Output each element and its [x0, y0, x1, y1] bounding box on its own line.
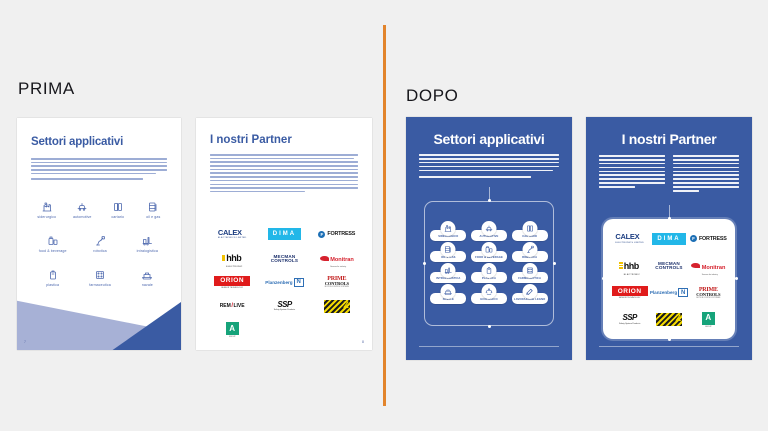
- before-sector-row: plasticafarmaceuticanavale: [29, 264, 171, 293]
- connector-dot-right: [553, 262, 556, 265]
- logo-sz: Z: [324, 300, 350, 313]
- after-sector-node[interactable]: LAVORAZIONE LEGNO: [509, 285, 550, 304]
- car-icon: [65, 196, 101, 213]
- after-page-partner: I nostri Partner CALEXELE: [586, 117, 752, 360]
- before-partner-logo[interactable]: PRIMECONTROLSMOTION CONTROL SYSTEMS: [311, 270, 363, 294]
- food-bottle-icon: [481, 242, 496, 257]
- after-sector-pill: ECOLOGICO: [471, 293, 507, 304]
- after-partner-logo[interactable]: ORIONSENSOR TECHNOLOGY: [610, 279, 649, 306]
- before-sector-item[interactable]: automotive: [65, 196, 101, 219]
- before-sector-icon-grid: siderurgicoautomotivecartariooil e gasfo…: [29, 196, 171, 298]
- before-page-settori: Settori applicativi siderurgicoautomotiv…: [17, 118, 181, 350]
- before-sector-label: farmaceutica: [76, 283, 123, 287]
- logo-calex: CALEXELECTRONICS LIMITED: [218, 229, 247, 240]
- before-partner-logo-grid: CALEXELECTRONICS LIMITEDDIMAFFORTRESShhb…: [206, 222, 363, 342]
- after-sector-pill: NAVALE: [430, 293, 466, 304]
- before-partner-logo[interactable]: AGROUP: [206, 318, 258, 342]
- before-sector-item[interactable]: farmaceutica: [76, 264, 123, 287]
- after-partner-logo[interactable]: Z: [649, 306, 688, 333]
- after-sector-pill: FARMACEUTICA: [512, 272, 548, 283]
- after-settori-title: Settori applicativi: [406, 131, 572, 147]
- logo-planzen: PlanzenbergN: [650, 288, 688, 297]
- after-sector-pill: SIDERURGICO: [430, 230, 466, 241]
- ship-icon: [441, 284, 456, 299]
- before-sector-label: plastica: [29, 283, 76, 287]
- before-sector-label: automotive: [65, 215, 101, 219]
- logo-mecman: MECMANCONTROLS: [655, 261, 682, 270]
- before-partner-page-number: 8: [362, 340, 364, 344]
- food-bottle-icon: [29, 230, 76, 247]
- after-sector-pill: INTRALOGISTICA: [430, 272, 466, 283]
- logo-dima: DIMA: [268, 228, 301, 240]
- before-partner-title: I nostri Partner: [210, 134, 292, 146]
- logo-prime: PRIMECONTROLSMOTION CONTROL SYSTEMS: [696, 287, 720, 299]
- robot-arm-icon: [76, 230, 123, 247]
- after-sector-pill: FOOD & BEVERAGE: [471, 251, 507, 262]
- oil-barrel-icon: [441, 242, 456, 257]
- logo-green: AGROUP: [226, 322, 239, 338]
- before-partner-logo[interactable]: PlanzenbergN: [258, 270, 310, 294]
- before-partner-logo[interactable]: FFORTRESS: [311, 222, 363, 246]
- robot-arm-icon: [522, 242, 537, 257]
- ship-icon: [124, 264, 171, 281]
- before-partner-logo[interactable]: CALEXELECTRONICS LIMITED: [206, 222, 258, 246]
- before-sector-label: siderurgico: [29, 215, 65, 219]
- logo-hhb: hhbELECTRONIC: [222, 248, 243, 268]
- paper-roll-icon: [522, 221, 537, 236]
- connector-dot-bottom: [488, 325, 491, 328]
- logo-planzen: PlanzenbergN: [265, 278, 303, 287]
- paper-roll-icon: [100, 196, 136, 213]
- before-sector-item[interactable]: oil e gas: [136, 196, 172, 219]
- after-partner-logo[interactable]: PRIMECONTROLSMOTION CONTROL SYSTEMS: [689, 279, 728, 306]
- before-sector-label: navale: [124, 283, 171, 287]
- logo-mecman: MECMANCONTROLS: [271, 254, 298, 263]
- before-sector-item[interactable]: robotica: [76, 230, 123, 253]
- connector-dot-left: [602, 277, 605, 280]
- after-sector-node[interactable]: NAVALE: [428, 285, 469, 304]
- section-label-dopo: DOPO: [406, 86, 458, 106]
- pharma-blister-icon: [522, 263, 537, 278]
- after-partner-logo-card: CALEXELECTRONICS LIMITEDDIMAFFORTRESShhb…: [603, 219, 735, 339]
- before-page-partner: I nostri Partner CALEXELECTRONICS LIMITE…: [196, 118, 372, 350]
- after-sector-pill: ROBOTICA: [512, 251, 548, 262]
- after-sector-pill: CARTARIO: [512, 230, 548, 241]
- logo-calex: CALEXELECTRONICS LIMITED: [615, 233, 644, 244]
- logo-ssp: SSPSafety System Products: [619, 314, 640, 325]
- connector-dot-right: [735, 277, 738, 280]
- connector-dot-bottom: [668, 338, 671, 341]
- before-sector-row: food & beverageroboticaintralogistica: [29, 230, 171, 259]
- after-sector-node[interactable]: INTRALOGISTICA: [428, 264, 469, 283]
- after-partner-logo[interactable]: CALEXELECTRONICS LIMITED: [610, 225, 649, 252]
- forklift-icon: [124, 230, 171, 247]
- logo-sz: Z: [656, 313, 682, 326]
- logo-remlive: REM/LIVE: [220, 303, 245, 309]
- logo-ssp: SSPSafety System Products: [274, 301, 295, 312]
- before-sector-item[interactable]: cartario: [100, 196, 136, 219]
- after-sector-node-container: SIDERURGICOAUTOMOTIVECARTARIOOIL E GASFO…: [424, 201, 554, 326]
- logo-prime: PRIMECONTROLSMOTION CONTROL SYSTEMS: [325, 276, 349, 288]
- after-settori-paragraph-1: [419, 154, 559, 173]
- after-partner-two-column-text: [599, 155, 739, 194]
- forklift-icon: [441, 263, 456, 278]
- after-page-settori: Settori applicativi SIDERURGICOAUTOMOTIV…: [406, 117, 572, 360]
- car-icon: [481, 221, 496, 236]
- after-sector-node[interactable]: PLASTICA: [469, 264, 510, 283]
- logo-fortress: FFORTRESS: [318, 231, 355, 238]
- after-partner-logo[interactable]: SSPSafety System Products: [610, 306, 649, 333]
- after-sector-pill: AUTOMOTIVE: [471, 230, 507, 241]
- after-partner-logo[interactable]: hhbELECTRONIC: [610, 252, 649, 279]
- logo-monitran: MonitranSensors for industry: [320, 248, 354, 268]
- after-sector-node[interactable]: FARMACEUTICA: [509, 264, 550, 283]
- after-settori-footer-rule: [419, 346, 559, 347]
- before-settori-page-number: 7: [24, 340, 26, 344]
- plastic-canister-icon: [481, 263, 496, 278]
- after-partner-logo[interactable]: MonitranSensors for industry: [689, 252, 728, 279]
- wood-saw-icon: [522, 284, 537, 299]
- before-sector-item[interactable]: siderurgico: [29, 196, 65, 219]
- before-sector-row: siderurgicoautomotivecartariooil e gas: [29, 196, 171, 225]
- oil-barrel-icon: [136, 196, 172, 213]
- before-settori-title: Settori applicativi: [31, 136, 123, 148]
- after-partner-title: I nostri Partner: [586, 131, 752, 147]
- plastic-canister-icon: [29, 264, 76, 281]
- pharma-blister-icon: [76, 264, 123, 281]
- before-partner-logo[interactable]: MonitranSensors for industry: [311, 246, 363, 270]
- before-sector-label: robotica: [76, 249, 123, 253]
- after-settori-paragraph-2: [419, 176, 559, 180]
- before-sector-item[interactable]: navale: [124, 264, 171, 287]
- logo-monitran: MonitranSensors for industry: [691, 256, 725, 276]
- before-partner-logo[interactable]: ORIONSENSOR TECHNOLOGY: [206, 270, 258, 294]
- before-partner-logo[interactable]: hhbELECTRONIC: [206, 246, 258, 270]
- after-sector-node[interactable]: ROBOTICA: [509, 243, 550, 262]
- after-sector-node[interactable]: CARTARIO: [509, 222, 550, 241]
- before-partner-logo[interactable]: REM/LIVE: [206, 294, 258, 318]
- before-partner-logo[interactable]: SSPSafety System Products: [258, 294, 310, 318]
- before-partner-logo[interactable]: Z: [311, 294, 363, 318]
- after-partner-logo[interactable]: DIMA: [649, 225, 688, 252]
- after-partner-logo[interactable]: FFORTRESS: [689, 225, 728, 252]
- after-partner-logo[interactable]: PlanzenbergN: [649, 279, 688, 306]
- vertical-divider: [383, 25, 386, 406]
- logo-dima: DIMA: [652, 233, 685, 245]
- logo-fortress: FFORTRESS: [690, 235, 727, 242]
- logo-green: AGROUP: [702, 312, 715, 328]
- logo-hhb: hhbELECTRONIC: [619, 256, 640, 276]
- recycle-icon: [481, 284, 496, 299]
- before-partner-logo[interactable]: DIMA: [258, 222, 310, 246]
- before-partner-body: [210, 154, 358, 195]
- steel-mill-icon: [29, 196, 65, 213]
- after-sector-node[interactable]: AUTOMOTIVE: [469, 222, 510, 241]
- before-sector-item[interactable]: food & beverage: [29, 230, 76, 253]
- before-settori-paragraph-2: [31, 178, 167, 182]
- after-sector-node[interactable]: ECOLOGICO: [469, 285, 510, 304]
- connector-dot-left: [423, 262, 426, 265]
- after-sector-node[interactable]: FOOD & BEVERAGE: [469, 243, 510, 262]
- after-sector-pill: OIL E GAS: [430, 251, 466, 262]
- before-sector-label: oil e gas: [136, 215, 172, 219]
- logo-orion: ORIONSENSOR TECHNOLOGY: [612, 286, 648, 299]
- before-sector-item[interactable]: intralogistica: [124, 230, 171, 253]
- before-partner-logo[interactable]: MECMANCONTROLS: [258, 246, 310, 270]
- before-sector-label: intralogistica: [124, 249, 171, 253]
- after-partner-column-right: [673, 155, 739, 194]
- after-partner-column-left: [599, 155, 665, 194]
- after-partner-footer-rule: [599, 346, 739, 347]
- after-sector-node[interactable]: SIDERURGICO: [428, 222, 469, 241]
- after-sector-pill: LAVORAZIONE LEGNO: [512, 293, 548, 304]
- before-sector-label: cartario: [100, 215, 136, 219]
- before-sector-item[interactable]: plastica: [29, 264, 76, 287]
- before-sector-label: food & beverage: [29, 249, 76, 253]
- after-partner-logo[interactable]: MECMANCONTROLS: [649, 252, 688, 279]
- steel-mill-icon: [441, 221, 456, 236]
- after-sector-node[interactable]: OIL E GAS: [428, 243, 469, 262]
- section-label-prima: PRIMA: [18, 79, 75, 99]
- after-sector-pill: PLASTICA: [471, 272, 507, 283]
- before-settori-paragraph-1: [31, 158, 167, 176]
- after-partner-logo[interactable]: AGROUP: [689, 306, 728, 333]
- logo-orion: ORIONSENSOR TECHNOLOGY: [214, 276, 250, 289]
